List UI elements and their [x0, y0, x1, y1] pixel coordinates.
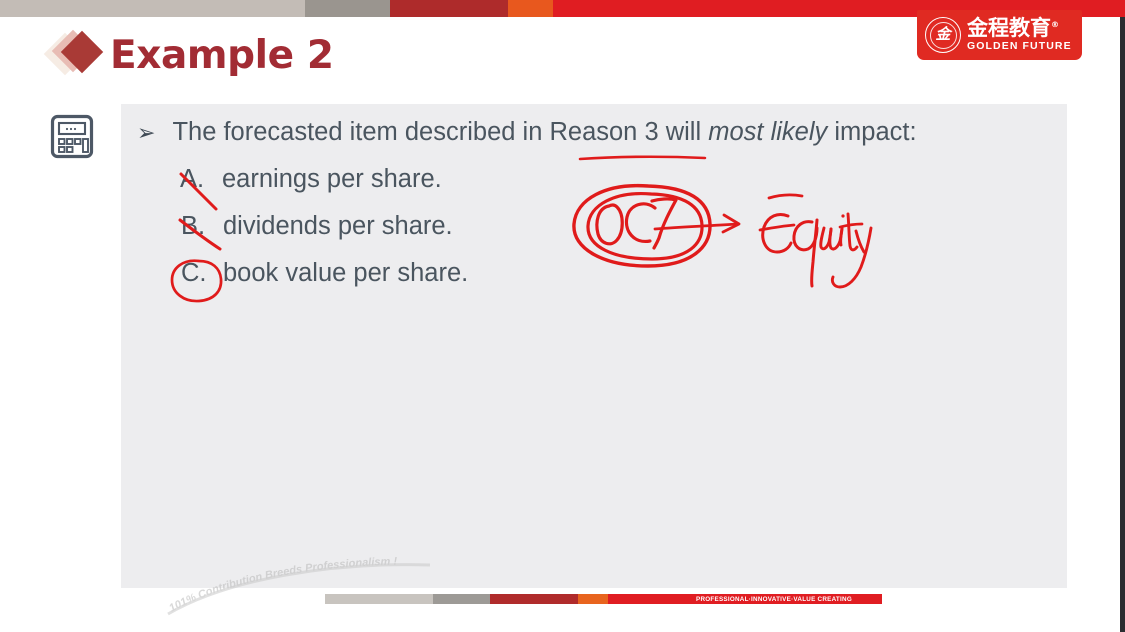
choice-c-text: book value per share.	[223, 261, 468, 287]
topbar-segment-beige-gray	[0, 0, 305, 17]
logo-seal-icon: 金	[925, 17, 961, 53]
question-italic-phrase: most likely	[708, 118, 827, 146]
answer-choice-a[interactable]: A. earnings per share.	[180, 167, 468, 214]
question-part3: impact:	[827, 118, 916, 146]
choice-c-letter: C.	[181, 261, 221, 287]
answer-choices-list: A. earnings per share. B. dividends per …	[180, 167, 468, 308]
logo-text-block: 金程教育® GOLDEN FUTURE	[967, 18, 1072, 52]
title-row: Example 2	[48, 28, 334, 80]
question-part2: will	[659, 118, 709, 146]
question-underlined-term: Reason 3	[549, 118, 658, 146]
answer-choice-b[interactable]: B. dividends per share.	[180, 214, 468, 261]
topbar-segment-orange	[508, 0, 553, 17]
page-title: Example 2	[110, 36, 334, 75]
footer-segment-gray	[433, 594, 490, 604]
footer-slogan: PROFESSIONAL·INNOVATIVE·VALUE CREATING	[696, 594, 852, 604]
diamond-bullet-icon	[48, 28, 106, 80]
slide-canvas: 金 金程教育® GOLDEN FUTURE Example 2	[0, 0, 1125, 632]
choice-a-text: earnings per share.	[222, 167, 442, 193]
choice-b-text: dividends per share.	[223, 214, 453, 240]
golden-future-logo: 金 金程教育® GOLDEN FUTURE	[917, 10, 1082, 60]
answer-choice-c[interactable]: C. book value per share.	[180, 261, 468, 308]
logo-chinese-text: 金程教育	[967, 16, 1051, 40]
footer-segment-light-gray	[325, 594, 433, 604]
question-line: ➢ The forecasted item described in Reaso…	[137, 118, 1055, 147]
logo-seal-glyph: 金	[935, 28, 950, 43]
question-block: ➢ The forecasted item described in Reaso…	[137, 118, 1055, 147]
content-panel: ➢ The forecasted item described in Reaso…	[121, 104, 1067, 588]
footer-segment-orange	[578, 594, 608, 604]
calculator-icon	[50, 114, 94, 159]
registered-mark-icon: ®	[1051, 20, 1059, 29]
watermark-text: 101% Contribution Breeds Professionalism…	[167, 556, 397, 615]
watermark-slogan: 101% Contribution Breeds Professionalism…	[160, 552, 560, 622]
question-part1: The forecasted item described in	[172, 118, 549, 146]
question-text: The forecasted item described in Reason …	[172, 118, 916, 147]
choice-a-letter: A.	[180, 167, 220, 193]
choice-b-letter: B.	[181, 214, 221, 240]
arrow-bullet-icon: ➢	[137, 123, 155, 145]
logo-english-name: GOLDEN FUTURE	[967, 41, 1072, 52]
topbar-segment-dark-red	[390, 0, 508, 17]
window-right-edge	[1120, 17, 1125, 632]
logo-chinese-name: 金程教育®	[967, 18, 1072, 39]
topbar-segment-gray	[305, 0, 390, 17]
footer-segment-dark-red	[490, 594, 578, 604]
